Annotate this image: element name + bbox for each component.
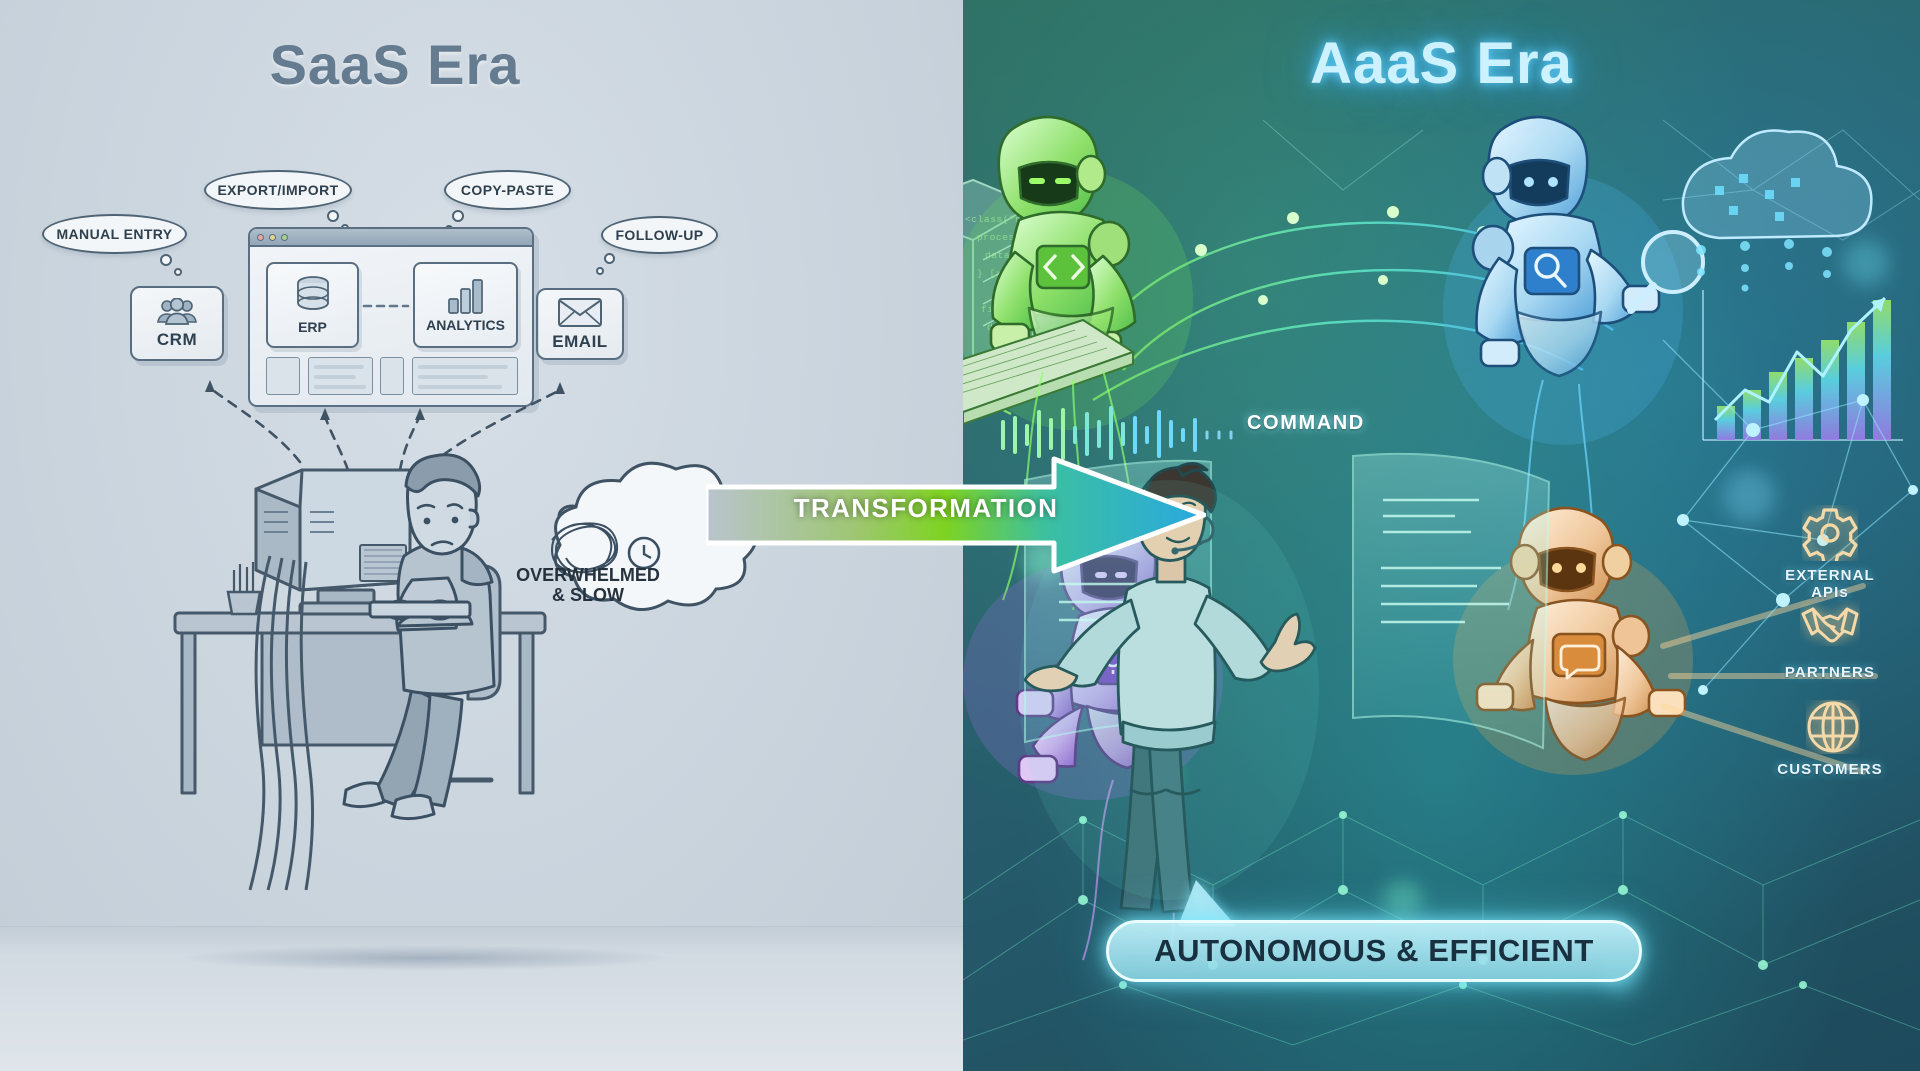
transformation-arrow bbox=[706, 455, 1206, 575]
autonomous-banner: AUTONOMOUS & EFFICIENT bbox=[1106, 920, 1642, 982]
node-label-line1: EXTERNAL bbox=[1760, 568, 1900, 585]
thought-cloud-line1: OVERWHELMED bbox=[516, 565, 660, 585]
cloud-icon bbox=[1683, 130, 1871, 238]
handshake-icon bbox=[1800, 600, 1860, 646]
globe-icon bbox=[1806, 700, 1860, 754]
banner-label: AUTONOMOUS & EFFICIENT bbox=[1154, 933, 1594, 969]
node-label-external-apis: EXTERNAL APIs bbox=[1760, 568, 1900, 602]
node-label-partners: PARTNERS bbox=[1760, 665, 1900, 682]
node-label-line1: PARTNERS bbox=[1760, 665, 1900, 682]
page-title-aaas: AaaS Era bbox=[963, 30, 1920, 97]
command-label: COMMAND bbox=[1247, 412, 1365, 435]
infographic-canvas: SaaS Era MANUAL ENTRY EXPORT/IMPORT COPY… bbox=[0, 0, 1920, 1071]
node-label-line1: CUSTOMERS bbox=[1755, 762, 1905, 779]
thought-cloud-line2: & SLOW bbox=[552, 585, 624, 605]
gear-icon bbox=[1802, 505, 1858, 561]
node-label-customers: CUSTOMERS bbox=[1755, 762, 1905, 779]
